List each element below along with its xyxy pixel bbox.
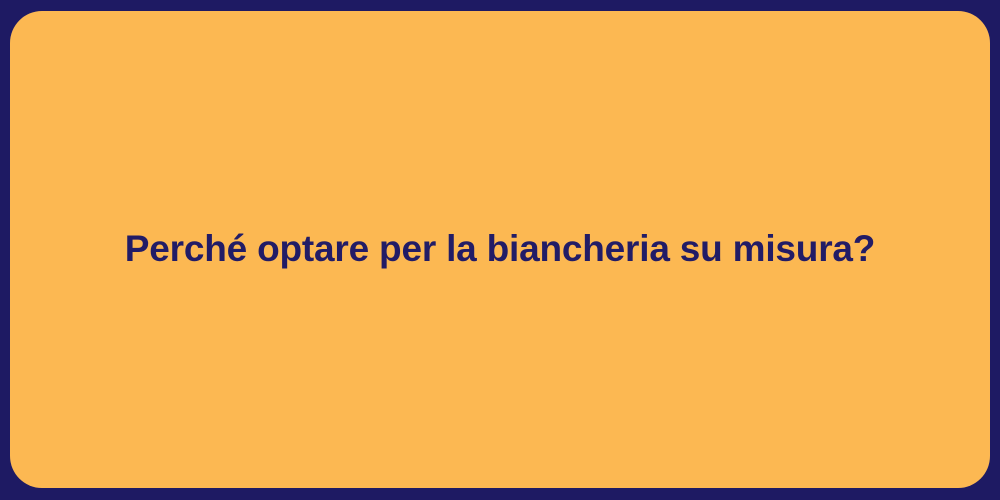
heading-container: Perché optare per la biancheria su misur…: [10, 226, 990, 272]
page-title: Perché optare per la biancheria su misur…: [50, 226, 950, 272]
banner-frame: Perché optare per la biancheria su misur…: [0, 0, 1000, 500]
banner-card: Perché optare per la biancheria su misur…: [10, 11, 990, 488]
